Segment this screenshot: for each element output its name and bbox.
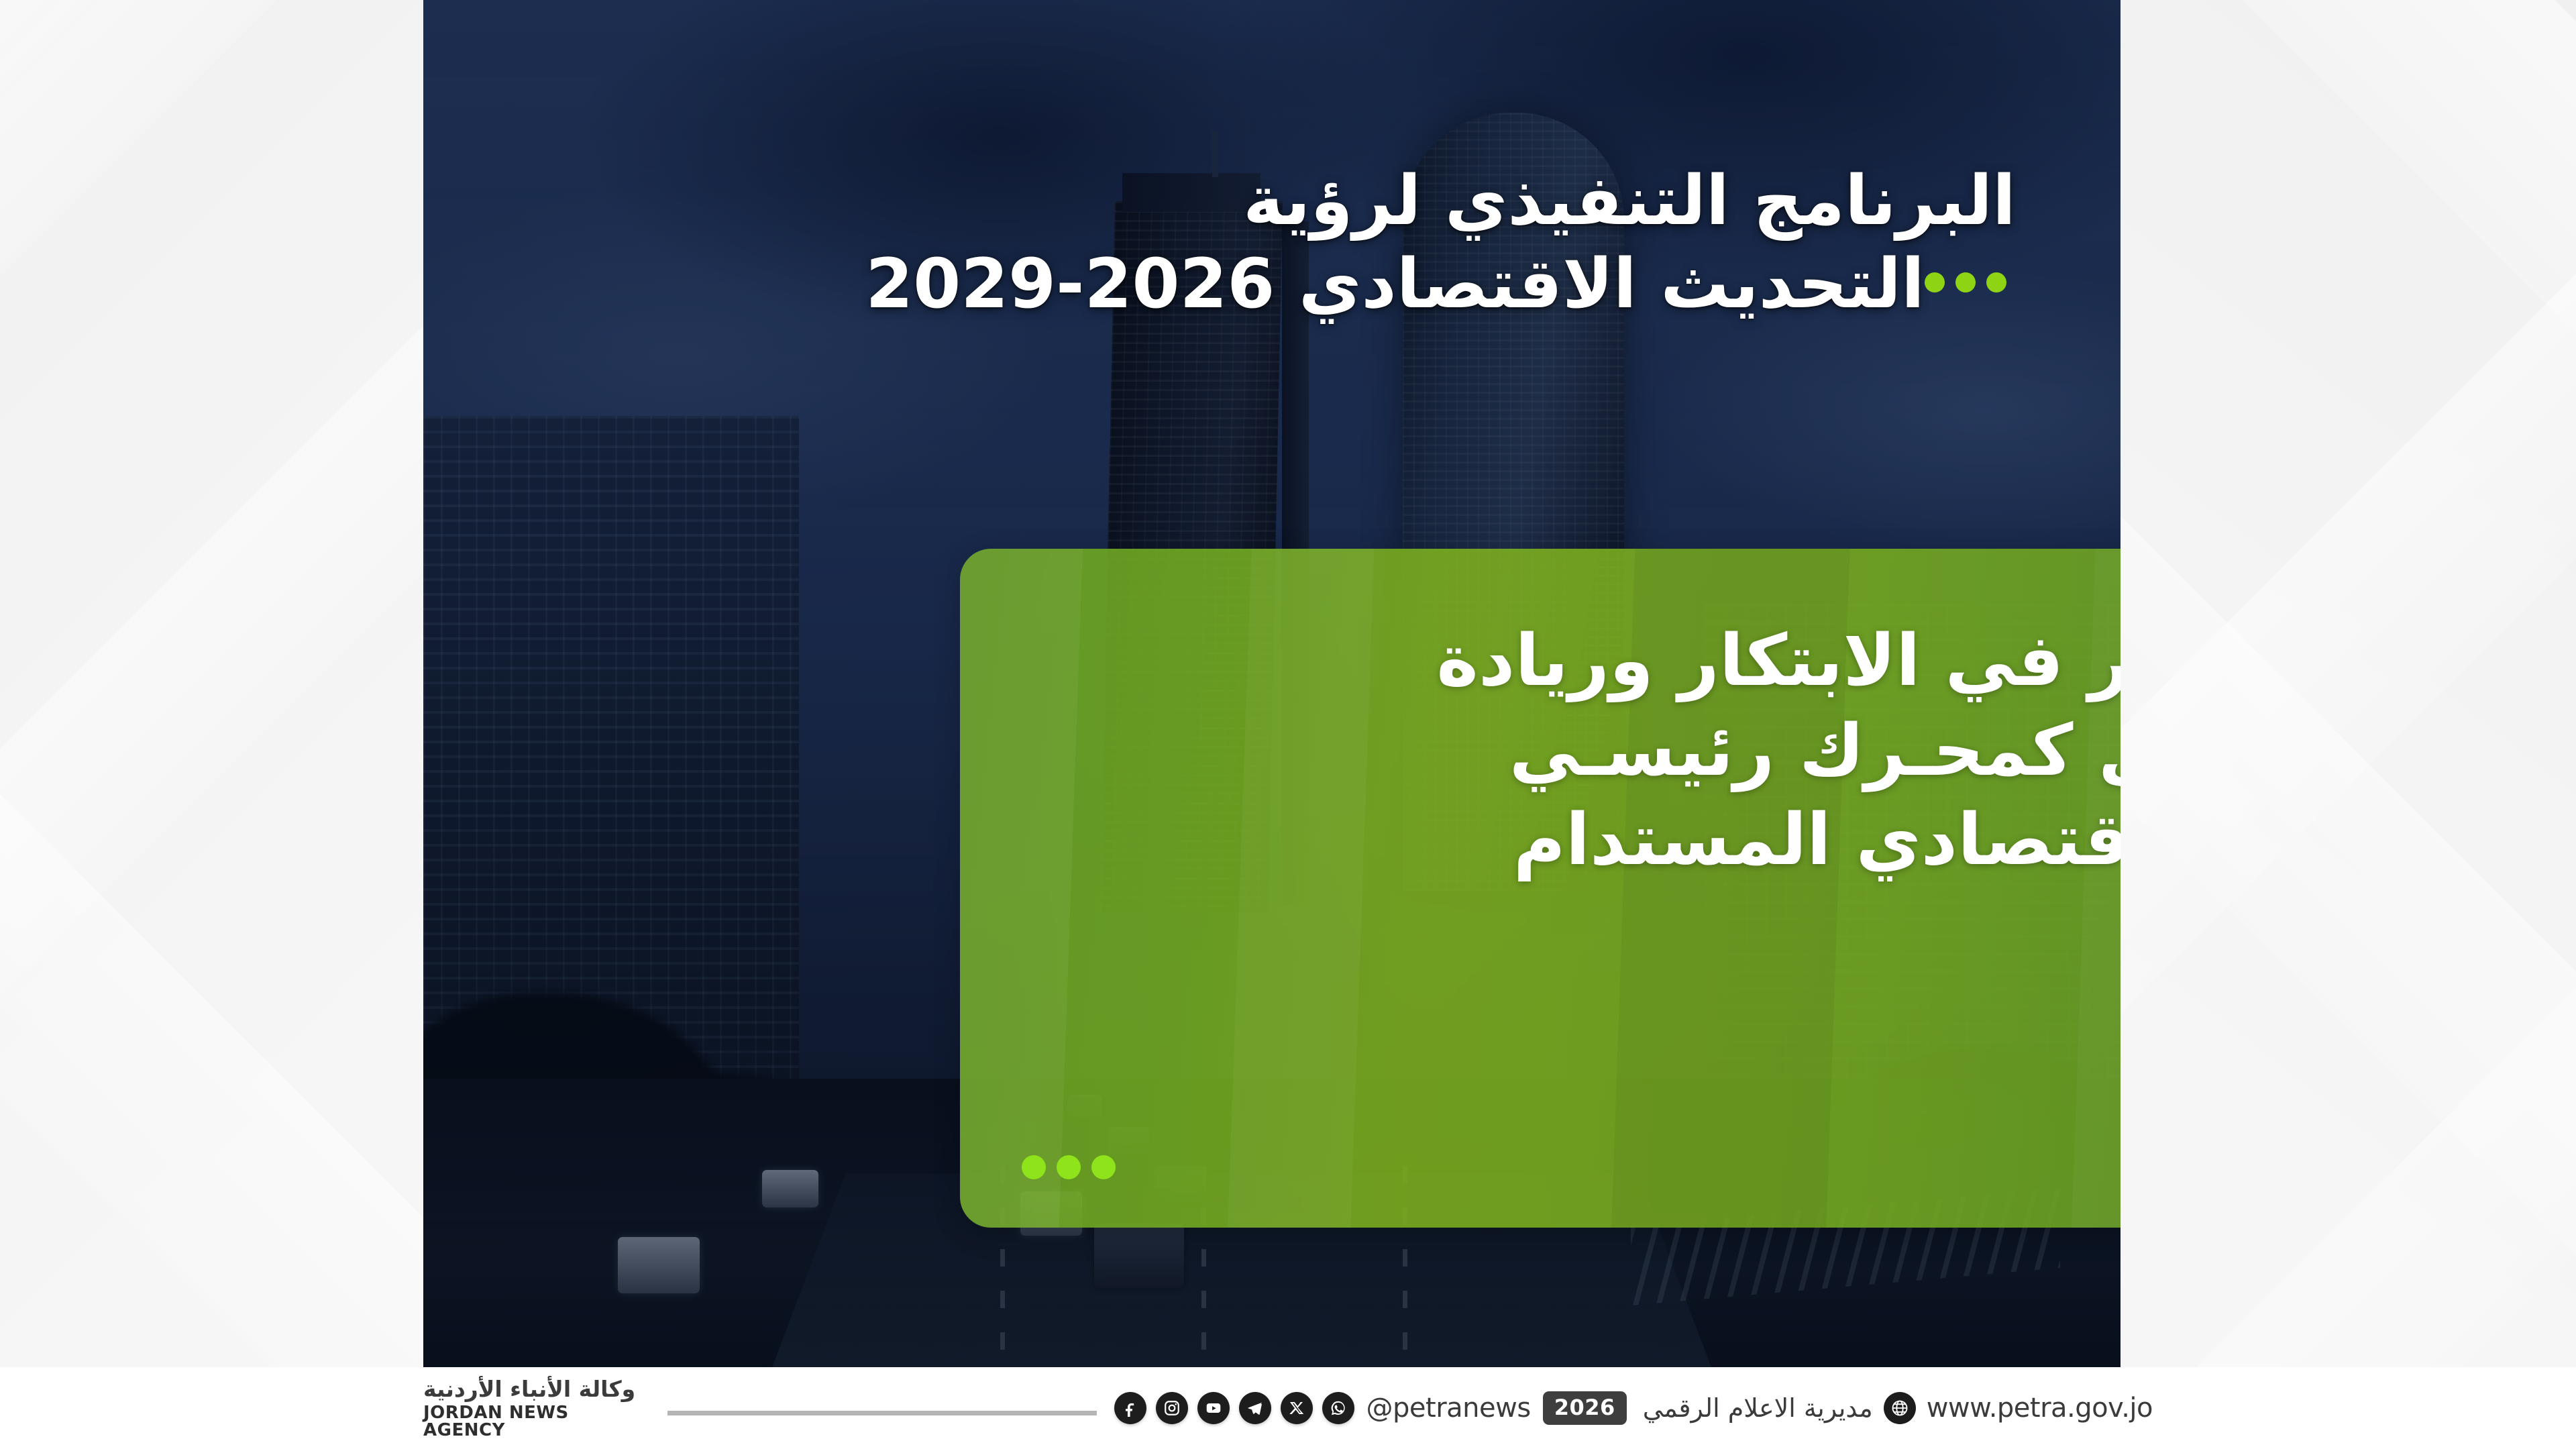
card-text: الاستثمار في الابتكار وريادة الأعمــال ك…	[1067, 616, 2121, 885]
whatsapp-icon[interactable]	[1322, 1392, 1354, 1424]
social-links	[1114, 1392, 1354, 1424]
footer-bar: وكالة الأنباء الأردنية JORDAN NEWS AGENC…	[0, 1367, 2576, 1449]
card-ellipsis-dots	[1022, 1155, 1116, 1179]
agency-name-english: JORDAN NEWS AGENCY	[423, 1404, 655, 1439]
youtube-icon[interactable]	[1197, 1392, 1230, 1424]
headline: البرنامج التنفيذي لرؤية التحديث الاقتصاد…	[835, 160, 2016, 327]
globe-icon	[1884, 1392, 1916, 1424]
footer-content: وكالة الأنباء الأردنية JORDAN NEWS AGENC…	[423, 1367, 2153, 1449]
card-line-2: الأعمــال كمحـرك رئيسـي	[1067, 706, 2121, 796]
facebook-icon[interactable]	[1114, 1392, 1146, 1424]
card-line-3: للنمو الاقتصادي المستدام	[1067, 795, 2121, 885]
agency-logo: وكالة الأنباء الأردنية JORDAN NEWS AGENC…	[423, 1378, 655, 1439]
year-badge: 2026	[1543, 1391, 1627, 1425]
headline-line-2: التحديث الاقتصادي 2026-2029	[835, 243, 2016, 326]
headline-ellipsis-dots	[1925, 272, 2006, 292]
agency-name-arabic: وكالة الأنباء الأردنية	[423, 1378, 635, 1400]
summary-card: الاستثمار في الابتكار وريادة الأعمــال ك…	[960, 549, 2121, 1228]
instagram-icon[interactable]	[1156, 1392, 1188, 1424]
telegram-icon[interactable]	[1239, 1392, 1271, 1424]
card-line-1: الاستثمار في الابتكار وريادة	[1067, 616, 2121, 706]
footer-divider-line	[667, 1411, 1097, 1415]
website-url: www.petra.gov.jo	[1927, 1393, 2153, 1424]
headline-line-2-text: التحديث الاقتصادي 2026-2029	[865, 244, 1925, 324]
social-handle: @petranews	[1366, 1393, 1531, 1424]
x-icon[interactable]	[1281, 1392, 1313, 1424]
poster-page: البرنامج التنفيذي لرؤية التحديث الاقتصاد…	[0, 0, 2576, 1449]
headline-line-1: البرنامج التنفيذي لرؤية	[835, 160, 2016, 243]
department-label: مديرية الاعلام الرقمي	[1643, 1393, 1873, 1423]
hero-image-panel: البرنامج التنفيذي لرؤية التحديث الاقتصاد…	[423, 0, 2121, 1367]
